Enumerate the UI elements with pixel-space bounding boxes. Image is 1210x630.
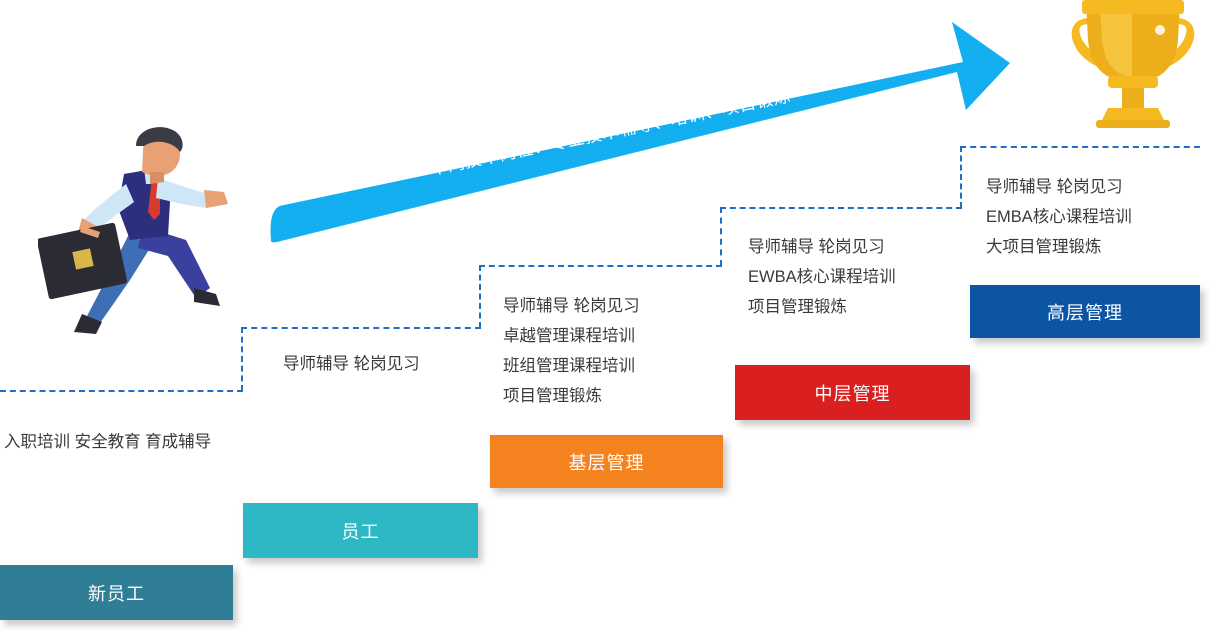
career-path-diagram: 不同技术岗位：专业技术辅导、培训、项目锻炼 入职培训 安全教育 育成辅导 导师辅…	[0, 0, 1210, 630]
detail-line: 入职培训 安全教育 育成辅导	[4, 427, 211, 457]
detail-line: 导师辅导 轮岗见习	[503, 291, 640, 321]
detail-line: 项目管理锻炼	[503, 381, 640, 411]
detail-block-level-1: 入职培训 安全教育 育成辅导	[4, 427, 211, 457]
connector-riser-2	[479, 265, 481, 328]
detail-block-level-2: 导师辅导 轮岗见习	[283, 349, 420, 379]
connector-segment-5	[960, 146, 1200, 148]
detail-line: EMBA核心课程培训	[986, 202, 1132, 232]
detail-line: 导师辅导 轮岗见习	[986, 172, 1132, 202]
step-box-label: 新员工	[88, 580, 145, 606]
connector-riser-1	[241, 327, 243, 391]
connector-segment-2	[241, 327, 481, 329]
detail-block-level-5: 导师辅导 轮岗见习 EMBA核心课程培训 大项目管理锻炼	[986, 172, 1132, 262]
step-box-new-employee[interactable]: 新员工	[0, 565, 233, 620]
step-box-employee[interactable]: 员工	[243, 503, 478, 558]
detail-block-level-3: 导师辅导 轮岗见习 卓越管理课程培训 班组管理课程培训 项目管理锻炼	[503, 291, 640, 411]
detail-line: EWBA核心课程培训	[748, 262, 896, 292]
detail-line: 班组管理课程培训	[503, 351, 640, 381]
trophy-icon	[1060, 0, 1208, 128]
detail-block-level-4: 导师辅导 轮岗见习 EWBA核心课程培训 项目管理锻炼	[748, 232, 896, 322]
detail-line: 导师辅导 轮岗见习	[748, 232, 896, 262]
connector-riser-4	[960, 146, 962, 208]
step-box-label: 员工	[342, 518, 380, 544]
connector-segment-4	[720, 207, 962, 209]
connector-riser-3	[720, 207, 722, 266]
running-businessman-icon	[38, 122, 238, 337]
step-box-label: 中层管理	[815, 380, 891, 406]
banner-text: 不同技术岗位：专业技术辅导、培训、项目锻炼	[427, 81, 792, 179]
step-box-senior-management[interactable]: 高层管理	[970, 285, 1200, 338]
step-box-junior-management[interactable]: 基层管理	[490, 435, 723, 488]
detail-line: 大项目管理锻炼	[986, 232, 1132, 262]
connector-segment-1	[0, 390, 243, 392]
detail-line: 项目管理锻炼	[748, 292, 896, 322]
detail-line: 卓越管理课程培训	[503, 321, 640, 351]
detail-line: 导师辅导 轮岗见习	[283, 349, 420, 379]
step-box-label: 基层管理	[569, 449, 645, 475]
connector-segment-3	[479, 265, 722, 267]
step-box-middle-management[interactable]: 中层管理	[735, 365, 970, 420]
step-box-label: 高层管理	[1047, 299, 1123, 325]
